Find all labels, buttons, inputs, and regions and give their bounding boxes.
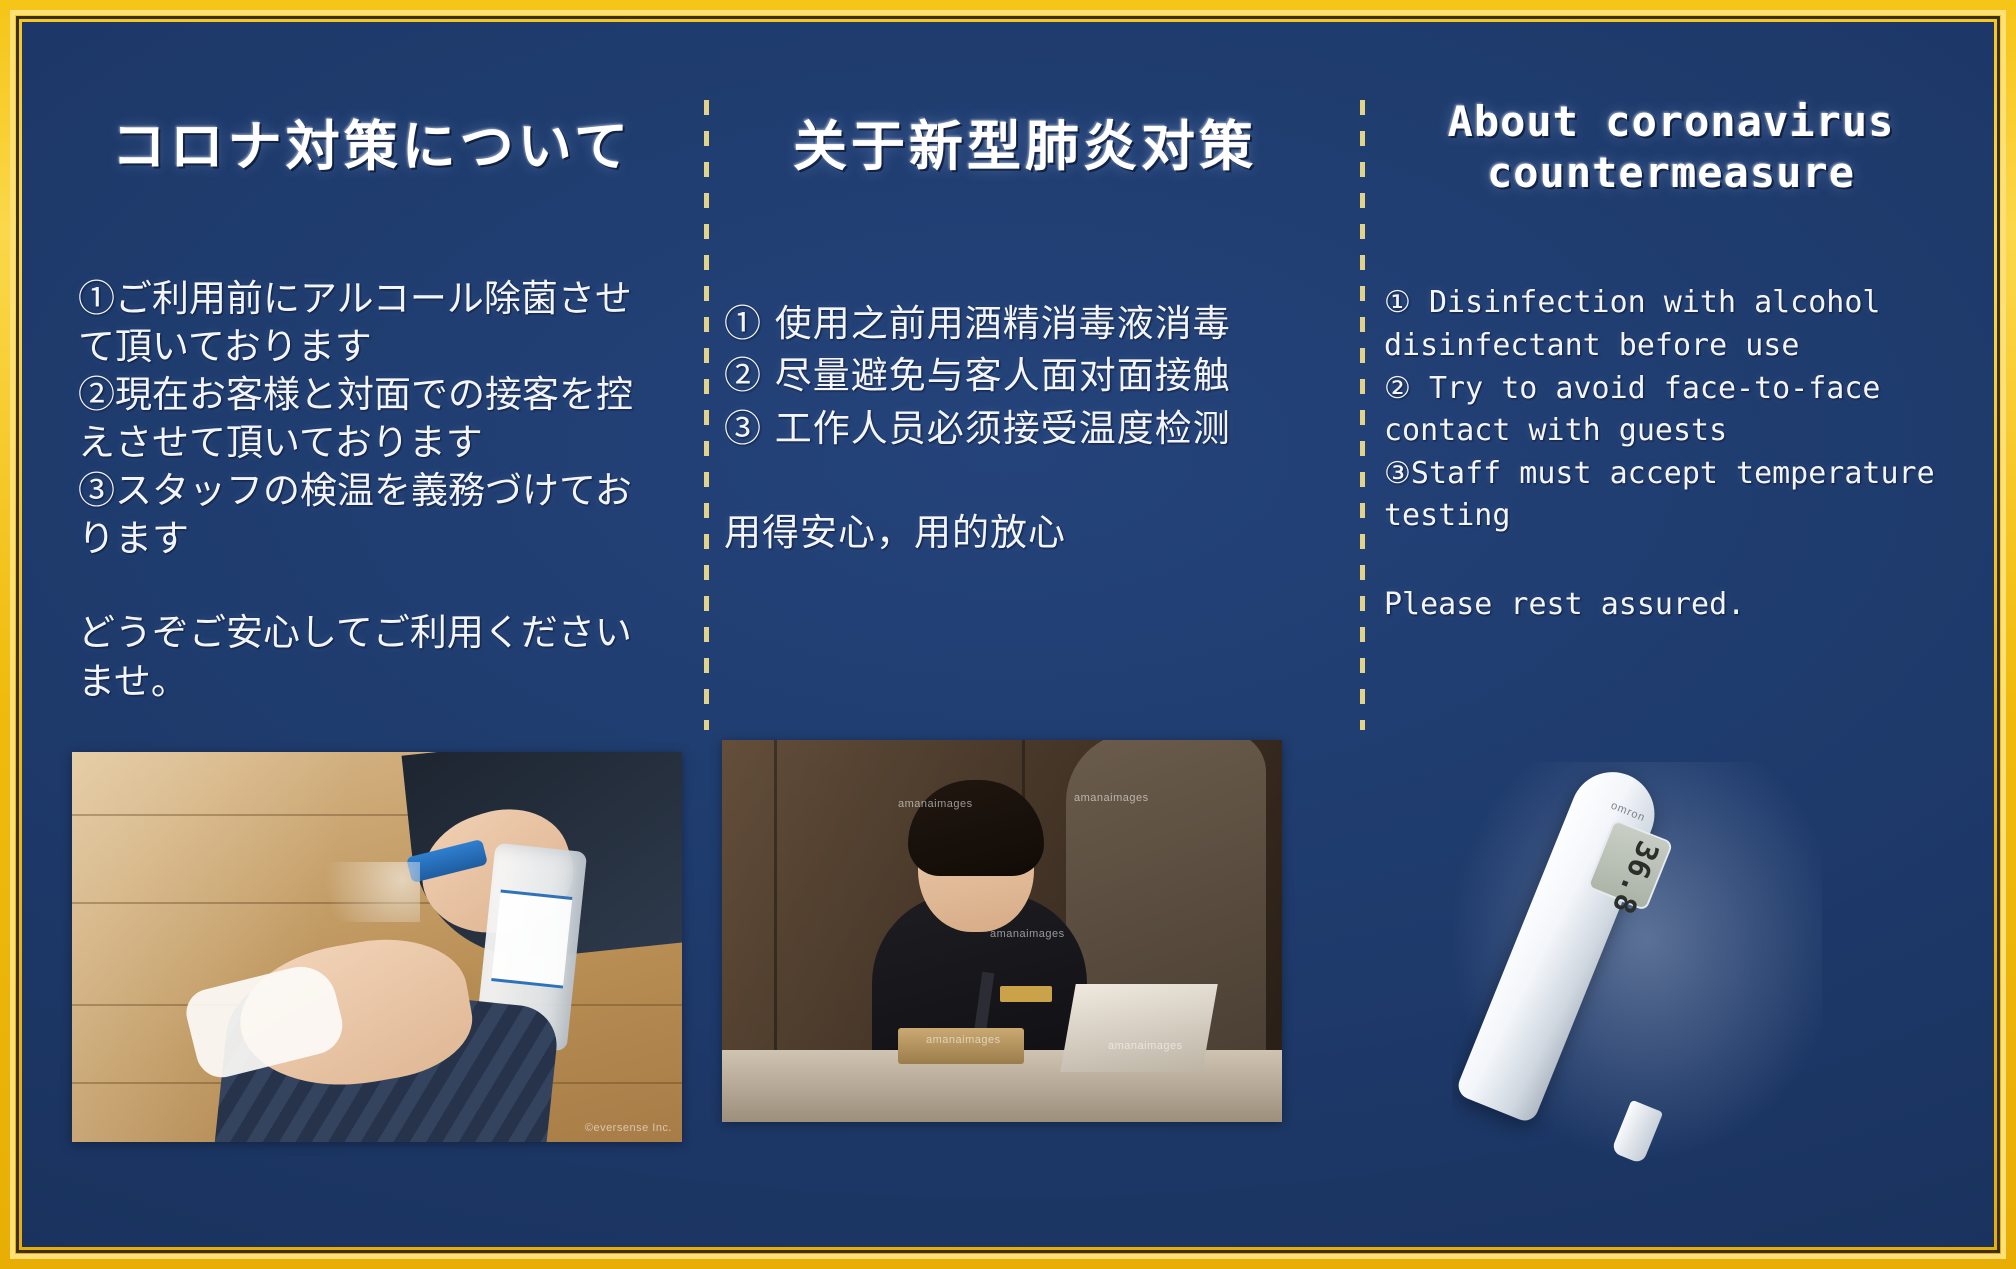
photo-watermark: amanaimages [1074, 792, 1149, 804]
photo-watermark: amanaimages [898, 798, 973, 810]
en-item-line: ① Disinfection with alcohol [1384, 282, 1958, 325]
heading-english: About coronavirus countermeasure [1384, 96, 1958, 198]
en-item-line: ② Try to avoid face-to-face [1384, 368, 1958, 411]
heading-chinese: 关于新型肺炎对策 [724, 114, 1326, 180]
notice-board: コロナ対策について ①ご利用前にアルコール除菌させ て頂いております ②現在お客… [22, 22, 1994, 1247]
photo-watermark: ©eversense Inc. [585, 1122, 672, 1134]
ja-item-line: ②現在お客様と対面での接客を控 [78, 371, 666, 419]
ja-item-line: えさせて頂いております [78, 419, 666, 467]
ja-closing-line: ませ。 [78, 658, 666, 706]
zh-item-line: ③ 工作人员必须接受温度检测 [724, 403, 1326, 456]
zh-item-line: ② 尽量避免与客人面对面接触 [724, 350, 1326, 403]
desk-laptop [1060, 984, 1218, 1072]
body-chinese: ① 使用之前用酒精消毒液消毒 ② 尽量避免与客人面对面接触 ③ 工作人员必须接受… [724, 298, 1326, 560]
column-divider-left [704, 100, 709, 730]
heading-english-line1: About coronavirus [1384, 96, 1958, 147]
paragraph-gap [1384, 538, 1958, 584]
en-item-line: disinfectant before use [1384, 325, 1958, 368]
paragraph-gap [724, 455, 1326, 507]
photo-disinfecting-table: ©eversense Inc. [72, 752, 682, 1142]
spray-mist [300, 862, 420, 922]
ja-item-line: ①ご利用前にアルコール除菌させ [78, 275, 666, 323]
photo-watermark: amanaimages [1108, 1040, 1183, 1052]
en-item-line: ③Staff must accept temperature [1384, 453, 1958, 496]
en-closing-line: Please rest assured. [1384, 584, 1958, 627]
body-english: ① Disinfection with alcohol disinfectant… [1384, 282, 1958, 626]
ja-item-line: ③スタッフの検温を義務づけてお [78, 467, 666, 515]
zh-closing-line: 用得安心，用的放心 [724, 507, 1326, 560]
heading-english-line2: countermeasure [1384, 147, 1958, 198]
heading-japanese: コロナ対策について [78, 114, 666, 180]
en-item-line: contact with guests [1384, 410, 1958, 453]
photo-watermark: amanaimages [926, 1034, 1001, 1046]
photo-digital-thermometer: 36.8 omron [1452, 762, 1822, 1162]
name-badge [1000, 986, 1052, 1002]
ja-item-line: ります [78, 515, 666, 563]
body-japanese: ①ご利用前にアルコール除菌させ て頂いております ②現在お客様と対面での接客を控… [78, 275, 666, 706]
ja-closing-line: どうぞご安心してご利用ください [78, 609, 666, 657]
photo-reception-staff: amanaimages amanaimages amanaimages aman… [722, 740, 1282, 1122]
paragraph-gap [78, 563, 666, 609]
poster-root: コロナ対策について ①ご利用前にアルコール除菌させ て頂いております ②現在お客… [0, 0, 2016, 1269]
photo-watermark: amanaimages [990, 928, 1065, 940]
column-divider-right [1360, 100, 1365, 730]
en-item-line: testing [1384, 495, 1958, 538]
bottle-label [491, 890, 572, 989]
ja-item-line: て頂いております [78, 323, 666, 371]
zh-item-line: ① 使用之前用酒精消毒液消毒 [724, 298, 1326, 351]
